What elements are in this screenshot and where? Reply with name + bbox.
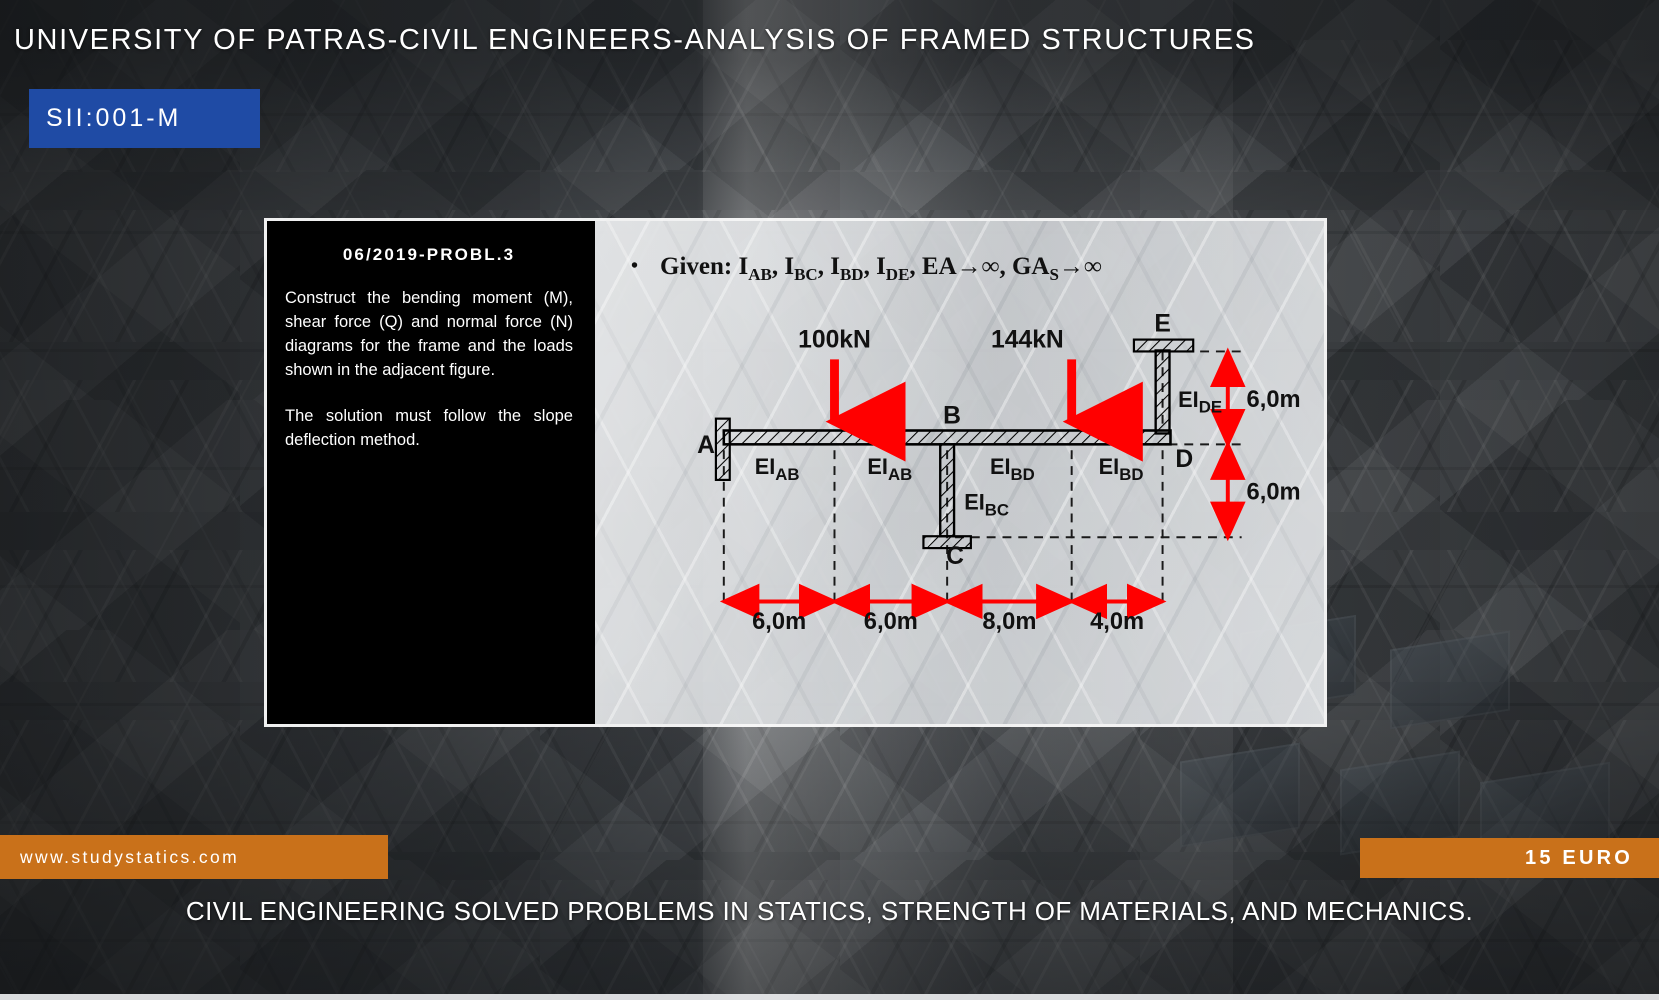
load-label-144kN: 144kN xyxy=(991,326,1064,353)
stiffness-label-bd-2: EIBD xyxy=(1099,454,1144,484)
website-badge[interactable]: www.studystatics.com xyxy=(0,835,388,879)
problem-code-label: SII:001-M xyxy=(46,104,181,133)
member-D-E xyxy=(1156,350,1170,433)
problem-statement-panel: 06/2019-PROBL.3 Construct the bending mo… xyxy=(267,221,595,724)
member-A-D xyxy=(724,431,1171,445)
dim-label-h-3: 8,0m xyxy=(982,609,1036,635)
support-E xyxy=(1134,340,1193,352)
problem-code-badge: SII:001-M xyxy=(29,89,260,148)
bottom-edge-strip xyxy=(0,994,1659,1000)
support-A xyxy=(716,419,730,480)
price-badge: 15 EURO xyxy=(1360,838,1659,878)
problem-id: 06/2019-PROBL.3 xyxy=(281,245,577,265)
dim-label-h-1: 6,0m xyxy=(752,609,806,635)
member-B-C xyxy=(940,444,954,536)
website-label: www.studystatics.com xyxy=(20,847,239,868)
node-label-E: E xyxy=(1154,311,1170,338)
stiffness-label-ab-1: EIAB xyxy=(755,454,800,484)
stiffness-label-bc: EIBC xyxy=(964,490,1009,520)
dim-label-h-2: 6,0m xyxy=(864,609,918,635)
dim-label-v-1: 6,0m xyxy=(1247,387,1301,413)
node-label-C: C xyxy=(946,543,964,570)
footer-tagline: CIVIL ENGINEERING SOLVED PROBLEMS IN STA… xyxy=(0,896,1659,927)
frame-diagram: 100kN 144kN A B C D E EIAB EIAB EIBD EIB… xyxy=(595,221,1324,724)
dim-label-h-4: 4,0m xyxy=(1090,609,1144,635)
stiffness-label-ab-2: EIAB xyxy=(867,454,912,484)
problem-paragraph-2: The solution must follow the slope defle… xyxy=(281,405,577,453)
node-label-B: B xyxy=(943,403,961,430)
load-label-100kN: 100kN xyxy=(798,326,871,353)
figure-panel: •Given: IAB, IBC, IBD, IDE, EA→∞, GAS→∞ xyxy=(595,221,1324,724)
stiffness-label-de: EIDE xyxy=(1178,387,1222,417)
price-label: 15 EURO xyxy=(1525,847,1633,870)
stiffness-label-bd-1: EIBD xyxy=(990,454,1035,484)
problem-card: 06/2019-PROBL.3 Construct the bending mo… xyxy=(264,218,1327,727)
page-title: UNIVERSITY OF PATRAS-CIVIL ENGINEERS-ANA… xyxy=(14,24,1256,57)
node-label-D: D xyxy=(1175,446,1193,473)
dim-label-v-2: 6,0m xyxy=(1247,480,1301,506)
node-label-A: A xyxy=(697,432,715,459)
problem-paragraph-1: Construct the bending moment (M), shear … xyxy=(281,287,577,383)
